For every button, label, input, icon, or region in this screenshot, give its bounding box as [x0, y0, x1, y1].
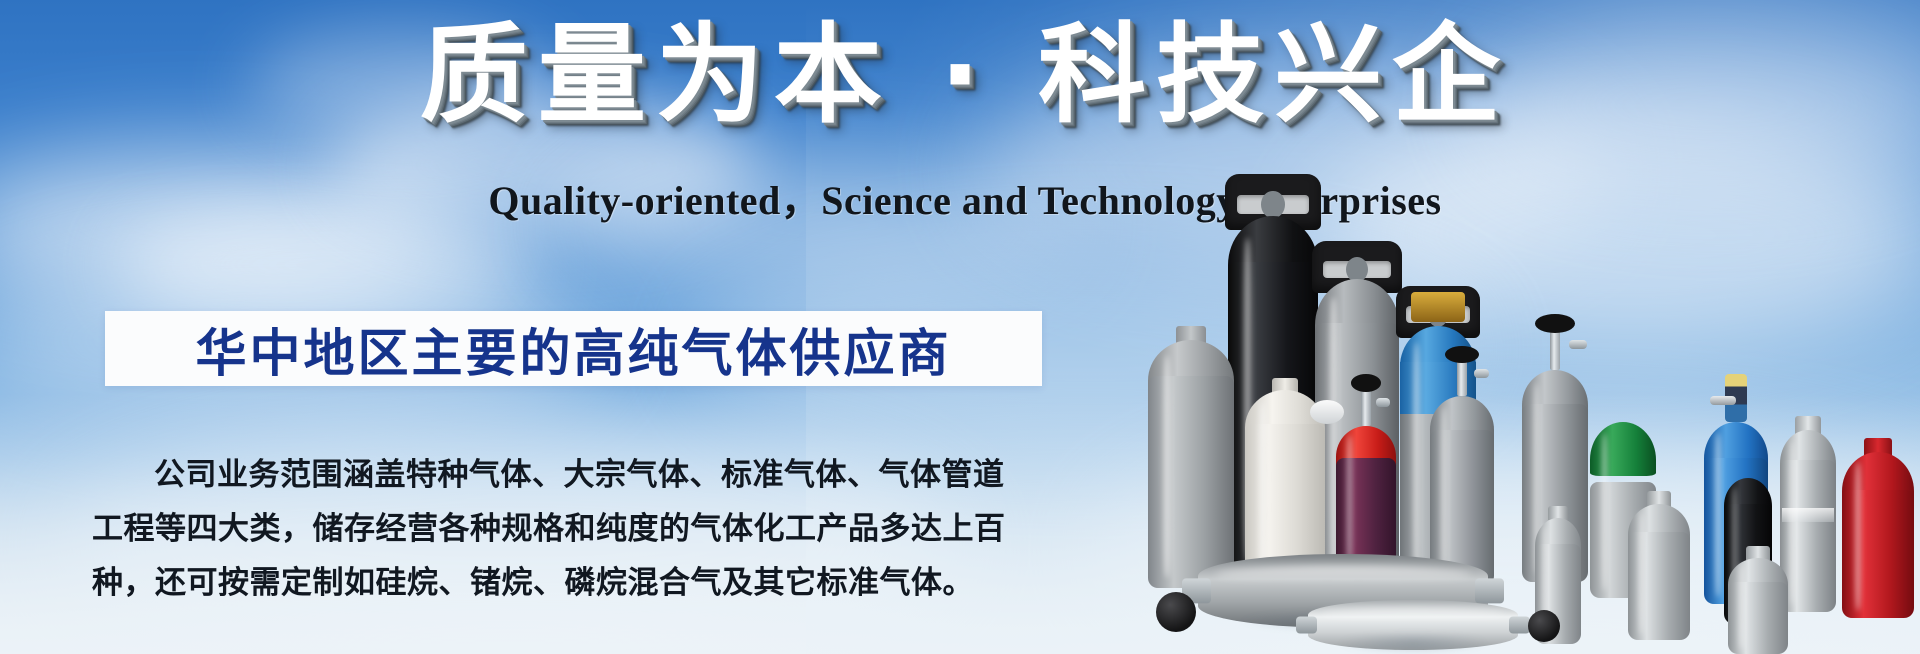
brass-valve-icon [1411, 292, 1465, 322]
tagline-text: 华中地区主要的高纯气体供应商 [195, 312, 951, 386]
paragraph-line: 种，还可按需定制如硅烷、锗烷、磷烷混合气及其它标准气体。 [92, 556, 1052, 610]
tall-grey-matte-cylinder [1148, 340, 1234, 588]
cylinder-highlight [1854, 462, 1863, 611]
cylinder-valve [1351, 374, 1381, 426]
cylinder-body [1842, 490, 1914, 618]
valve-outlet-icon [1376, 398, 1390, 407]
cylinder-highlight [1346, 435, 1353, 568]
valve-stem [1457, 361, 1467, 396]
valve-gauge-icon [1310, 400, 1344, 424]
paragraph-line: 公司业务范围涵盖特种气体、大宗气体、标准气体、气体管道 [92, 448, 1052, 502]
cylinder-highlight [1714, 433, 1722, 597]
small-aluminium-cylinder [1628, 504, 1690, 640]
red-purple-cylinder [1336, 426, 1396, 574]
brushed-aluminium-cylinder [1780, 430, 1836, 612]
cylinder-valve [1445, 346, 1479, 396]
valve-outlet-icon [1569, 340, 1587, 349]
small-aluminium-cylinder [1728, 558, 1788, 654]
cylinder-highlight [1162, 355, 1172, 578]
tank-highlight [1215, 566, 1470, 582]
gas-cylinder-group [1140, 150, 1920, 654]
tagline-strip: 华中地区主要的高纯气体供应商 [105, 311, 1042, 386]
valve-outlet-icon [1710, 396, 1736, 405]
drop-shadow [1308, 630, 1518, 654]
cylinder-highlight [1789, 441, 1796, 605]
cylinder-valve [1535, 314, 1575, 370]
description-paragraph: 公司业务范围涵盖特种气体、大宗气体、标准气体、气体管道 工程等四大类，储存经营各… [92, 448, 1052, 610]
headline-title: 质量为本 · 科技兴企 [400, 18, 1530, 135]
promo-banner: 质量为本 · 科技兴企 Quality-oriented，Science and… [0, 0, 1920, 654]
valve-handwheel-icon [1535, 314, 1575, 333]
valve-handwheel-icon [1445, 346, 1479, 363]
cylinder-body [1728, 582, 1788, 654]
paragraph-line: 工程等四大类，储存经营各种规格和纯度的气体化工产品多达上百 [92, 502, 1052, 556]
valve-outlet-icon [1474, 369, 1490, 378]
valve-stem [1361, 390, 1371, 426]
horizontal-white-tank [1308, 600, 1518, 650]
cylinder-highlight [1440, 407, 1448, 578]
valve-stem [1550, 331, 1560, 370]
cylinder-shoulder [1590, 422, 1656, 476]
tank-valve-knob-icon [1528, 610, 1560, 642]
tank-highlight [1321, 608, 1506, 619]
red-aluminium-cylinder [1842, 452, 1914, 618]
tank-valve-knob-icon [1156, 592, 1196, 632]
cylinder-highlight [1738, 564, 1745, 650]
valve-handwheel-icon [1351, 374, 1381, 392]
